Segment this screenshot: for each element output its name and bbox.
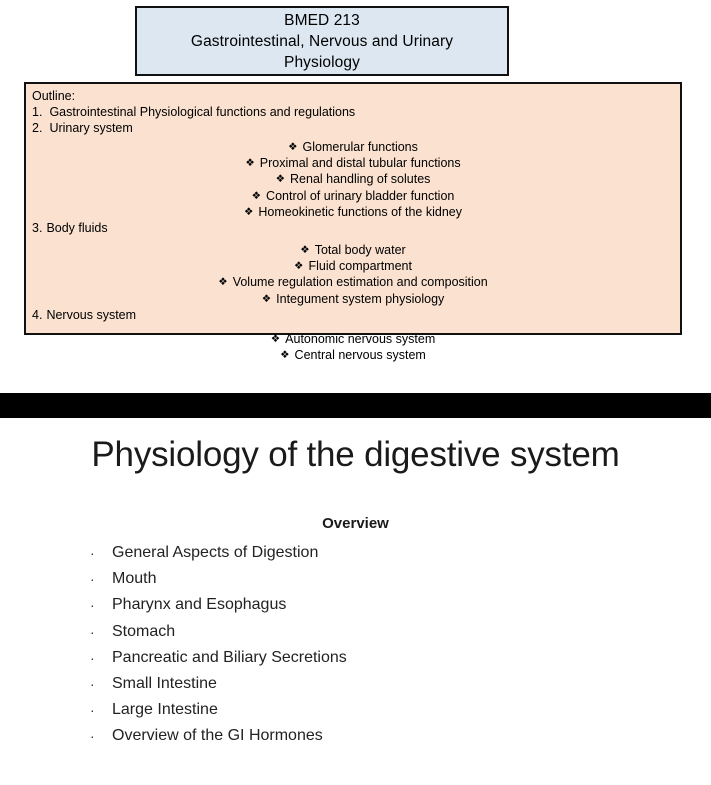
slide-digestive-overview: Physiology of the digestive system Overv…	[0, 418, 711, 785]
outline-section-2-number: 2.	[32, 120, 42, 136]
list-item-label: Renal handling of solutes	[290, 172, 430, 186]
list-item-label: Proximal and distal tubular functions	[260, 156, 461, 170]
list-item-label: Homeokinetic functions of the kidney	[258, 205, 462, 219]
list-item: ❖Fluid compartment	[32, 258, 674, 274]
diamond-bullet-icon: ❖	[218, 276, 227, 288]
dot-bullet-icon: ·	[90, 645, 95, 671]
list-item-label: Mouth	[112, 570, 156, 587]
list-item: ❖Total body water	[32, 242, 674, 258]
dot-bullet-icon: ·	[90, 592, 95, 618]
list-item: ❖Autonomic nervous system	[32, 331, 674, 347]
list-item: ❖Proximal and distal tubular functions	[32, 155, 674, 171]
list-item-label: Glomerular functions	[303, 140, 418, 154]
outline-section-4: 4.Nervous system	[32, 307, 674, 323]
outline-section-4-sublist: ❖Autonomic nervous system ❖Central nervo…	[32, 331, 674, 363]
dot-bullet-icon: ·	[90, 671, 95, 697]
diamond-bullet-icon: ❖	[252, 190, 261, 202]
list-item: ❖Control of urinary bladder function	[32, 188, 674, 204]
list-item: ❖Homeokinetic functions of the kidney	[32, 204, 674, 220]
list-item: ❖Volume regulation estimation and compos…	[32, 274, 674, 290]
diamond-bullet-icon: ❖	[294, 260, 303, 272]
diamond-bullet-icon: ❖	[276, 173, 285, 185]
diamond-bullet-icon: ❖	[300, 244, 309, 256]
list-item: ·Stomach	[88, 619, 648, 645]
list-item-label: Central nervous system	[295, 348, 426, 362]
spacer	[32, 323, 674, 331]
outline-section-3-sublist: ❖Total body water ❖Fluid compartment ❖Vo…	[32, 242, 674, 307]
list-item: ·Large Intestine	[88, 697, 648, 723]
list-item-label: Small Intestine	[112, 675, 217, 692]
list-item-label: Fluid compartment	[308, 259, 412, 273]
dot-bullet-icon: ·	[90, 566, 95, 592]
diamond-bullet-icon: ❖	[288, 141, 297, 153]
outline-section-3: 3.Body fluids	[32, 220, 674, 236]
diamond-bullet-icon: ❖	[245, 157, 254, 169]
list-item: ·Mouth	[88, 566, 648, 592]
page-title: Physiology of the digestive system	[0, 435, 711, 475]
diamond-bullet-icon: ❖	[280, 349, 289, 361]
dot-bullet-icon: ·	[90, 723, 95, 749]
list-item-label: Total body water	[315, 243, 406, 257]
list-item: ·Overview of the GI Hormones	[88, 723, 648, 749]
outline-box: Outline: 1.Gastrointestinal Physiologica…	[24, 82, 682, 335]
list-item: ·Pancreatic and Biliary Secretions	[88, 645, 648, 671]
outline-section-1: 1.Gastrointestinal Physiological functio…	[32, 104, 674, 120]
list-item: ·Pharynx and Esophagus	[88, 592, 648, 618]
slide-divider-bar	[0, 393, 711, 418]
list-item-label: Pancreatic and Biliary Secretions	[112, 649, 347, 666]
course-name-line-1: Gastrointestinal, Nervous and Urinary	[191, 31, 453, 52]
list-item-label: Large Intestine	[112, 701, 218, 718]
course-title-lines: BMED 213 Gastrointestinal, Nervous and U…	[191, 10, 453, 73]
diamond-bullet-icon: ❖	[244, 206, 253, 218]
list-item: ❖Integument system physiology	[32, 291, 674, 307]
course-title-box: BMED 213 Gastrointestinal, Nervous and U…	[135, 6, 509, 76]
outline-section-3-label: Body fluids	[46, 221, 107, 235]
diamond-bullet-icon: ❖	[271, 333, 280, 345]
outline-section-4-number: 4.	[32, 307, 42, 323]
course-name-line-2: Physiology	[191, 52, 453, 73]
list-item-label: Overview of the GI Hormones	[112, 727, 323, 744]
slide-course-outline: BMED 213 Gastrointestinal, Nervous and U…	[0, 0, 711, 392]
dot-bullet-icon: ·	[90, 540, 95, 566]
list-item: ❖Central nervous system	[32, 347, 674, 363]
course-code: BMED 213	[191, 10, 453, 31]
outline-section-2: 2.Urinary system	[32, 120, 674, 136]
outline-heading: Outline:	[32, 88, 674, 104]
list-item: ❖Glomerular functions	[32, 139, 674, 155]
outline-section-3-number: 3.	[32, 220, 42, 236]
overview-list: ·General Aspects of Digestion ·Mouth ·Ph…	[88, 540, 648, 750]
outline-section-1-number: 1.	[32, 104, 42, 120]
list-item-label: Stomach	[112, 623, 175, 640]
list-item-label: Control of urinary bladder function	[266, 189, 454, 203]
overview-heading: Overview	[0, 515, 711, 532]
outline-section-2-sublist: ❖Glomerular functions ❖Proximal and dist…	[32, 139, 674, 220]
list-item: ❖Renal handling of solutes	[32, 171, 674, 187]
list-item-label: Pharynx and Esophagus	[112, 596, 286, 613]
outline-section-4-label: Nervous system	[46, 308, 136, 322]
list-item-label: Volume regulation estimation and composi…	[233, 275, 488, 289]
outline-section-2-label: Urinary system	[49, 121, 132, 135]
dot-bullet-icon: ·	[90, 619, 95, 645]
dot-bullet-icon: ·	[90, 697, 95, 723]
diamond-bullet-icon: ❖	[262, 293, 271, 305]
list-item-label: General Aspects of Digestion	[112, 544, 318, 561]
list-item: ·Small Intestine	[88, 671, 648, 697]
list-item-label: Integument system physiology	[276, 292, 444, 306]
list-item: ·General Aspects of Digestion	[88, 540, 648, 566]
outline-section-1-label: Gastrointestinal Physiological functions…	[49, 105, 355, 119]
list-item-label: Autonomic nervous system	[285, 332, 435, 346]
